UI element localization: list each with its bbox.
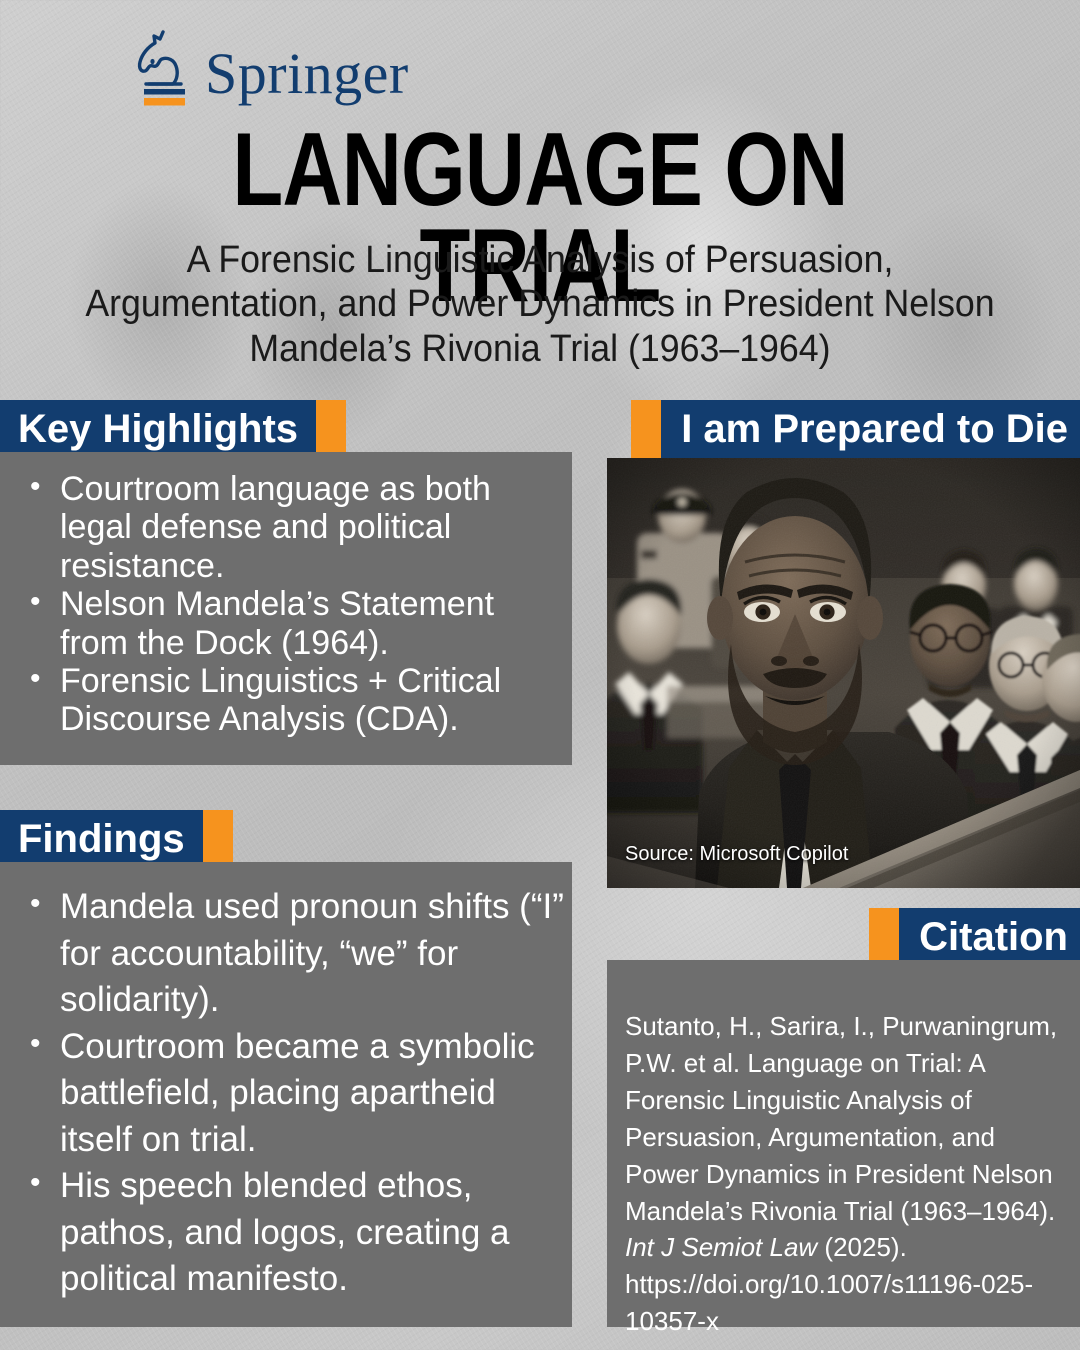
citation-text: Sutanto, H., Sarira, I., Purwaningrum, P… (625, 1008, 1067, 1340)
citation-part-one: Sutanto, H., Sarira, I., Purwaningrum, P… (625, 1011, 1057, 1226)
knight-chess-piece-icon (133, 26, 195, 108)
accent-block-orange (316, 400, 346, 458)
accent-block-orange (203, 810, 233, 868)
list-item: Mandela used pronoun shifts (“I” for acc… (14, 884, 564, 1024)
findings-list: Mandela used pronoun shifts (“I” for acc… (14, 884, 564, 1303)
panel-citation: Sutanto, H., Sarira, I., Purwaningrum, P… (607, 960, 1080, 1327)
list-item: His speech blended ethos, pathos, and lo… (14, 1163, 564, 1303)
list-item: Forensic Linguistics + Critical Discours… (14, 662, 554, 739)
citation-journal-name: Int J Semiot Law (625, 1232, 817, 1262)
section-heading-label: Key Highlights (0, 400, 316, 458)
springer-logo: Springer (133, 26, 409, 108)
list-item: Courtroom became a symbolic battlefield,… (14, 1024, 564, 1164)
section-header-citation: Citation (869, 908, 1080, 966)
section-heading-label: Citation (899, 908, 1080, 966)
section-heading-label: I am Prepared to Die (661, 400, 1080, 458)
list-item: Nelson Mandela’s Statement from the Dock… (14, 585, 554, 662)
springer-wordmark: Springer (205, 47, 409, 108)
panel-key-highlights: Courtroom language as both legal defense… (0, 452, 572, 765)
section-heading-label: Findings (0, 810, 203, 868)
accent-block-orange (631, 400, 661, 458)
courtroom-photo-artwork (607, 458, 1080, 888)
list-item: Courtroom language as both legal defense… (14, 470, 554, 585)
courtroom-photo: Source: Microsoft Copilot (607, 458, 1080, 888)
poster-header: Springer LANGUAGE ON TRIAL A Forensic Li… (0, 0, 1080, 400)
section-header-prepared-to-die: I am Prepared to Die (631, 400, 1080, 458)
section-header-key-highlights: Key Highlights (0, 400, 346, 458)
photo-caption: Source: Microsoft Copilot (625, 843, 848, 866)
accent-block-orange (869, 908, 899, 966)
section-header-findings: Findings (0, 810, 233, 868)
key-highlights-list: Courtroom language as both legal defense… (14, 470, 554, 739)
page-subtitle: A Forensic Linguistic Analysis of Persua… (79, 238, 1000, 371)
panel-findings: Mandela used pronoun shifts (“I” for acc… (0, 862, 572, 1327)
